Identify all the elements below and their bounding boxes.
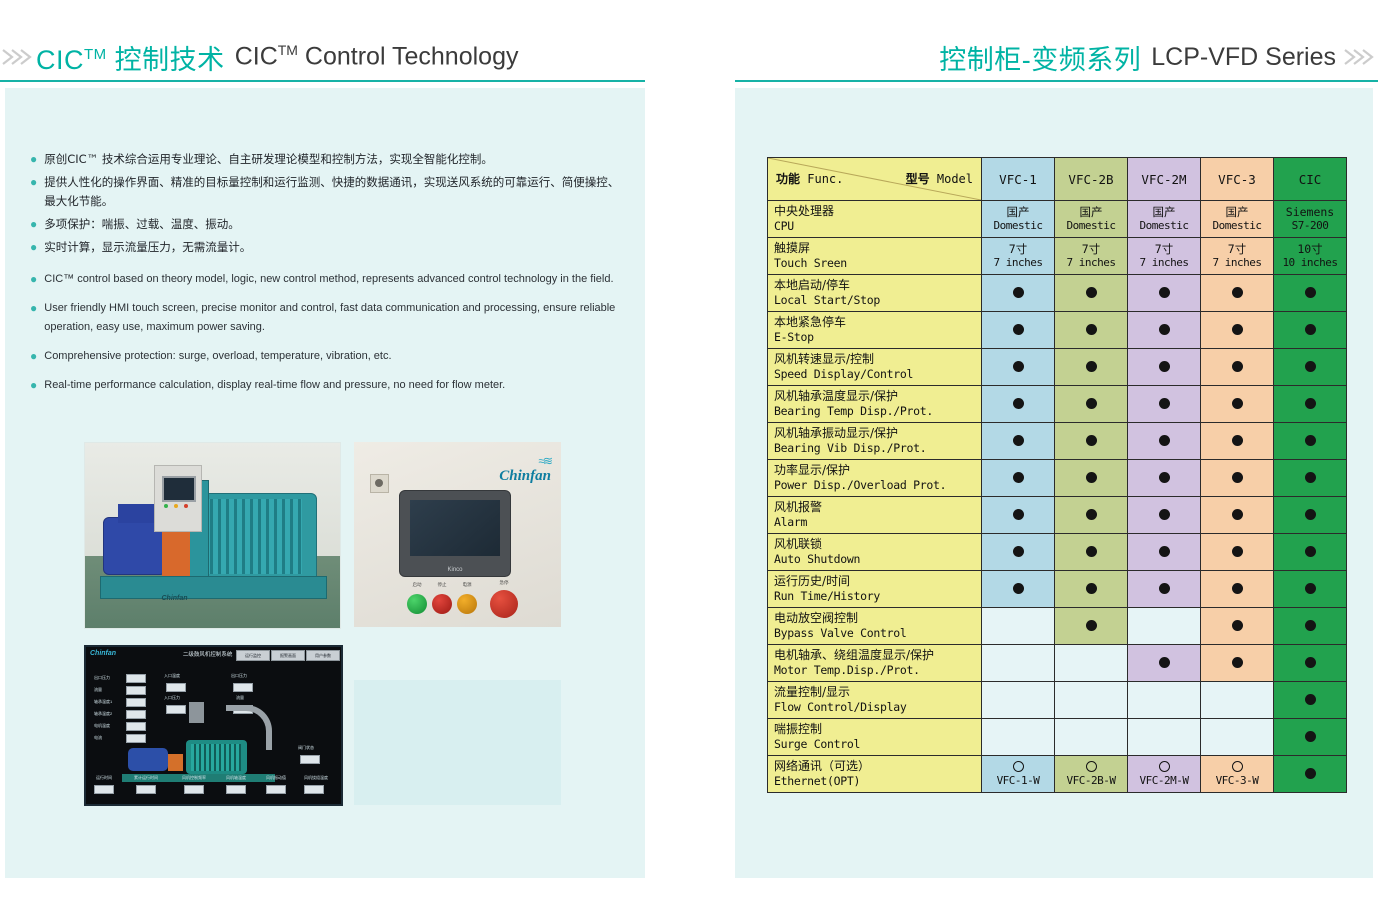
cell-value-primary: 7寸	[1201, 242, 1273, 256]
supported-mark-icon	[1232, 472, 1243, 483]
table-row: 本地启动/停车Local Start/Stop	[768, 275, 1347, 312]
cell-value-secondary: 7 inches	[1128, 256, 1200, 270]
feature-support-cell	[982, 460, 1055, 497]
feature-label-cn: 风机转速显示/控制	[774, 352, 981, 367]
feature-label-cn: 中央处理器	[774, 204, 981, 219]
supported-mark-icon	[1232, 657, 1243, 668]
bullet-dot-icon: ●	[30, 302, 37, 314]
right-section-header: 控制柜-变频系列 LCP-VFD Series	[735, 34, 1378, 80]
supported-mark-icon	[1232, 435, 1243, 446]
feature-label-en: Touch Sreen	[774, 256, 981, 271]
supported-mark-icon	[1013, 509, 1024, 520]
cell-value-secondary: Domestic	[1055, 219, 1127, 233]
feature-label-en: Ethernet(OPT)	[774, 774, 981, 789]
hmi-nav-button[interactable]: 参数设置	[341, 650, 343, 661]
hmi-nav-button[interactable]: 用户参数	[306, 650, 340, 661]
supported-mark-icon	[1086, 361, 1097, 372]
hmi-nav-button[interactable]: 运行监控	[236, 650, 270, 661]
feature-label-cn: 本地紧急停车	[774, 315, 981, 330]
supported-mark-icon	[1159, 546, 1170, 557]
right-title-cn: 控制柜-变频系列	[939, 38, 1141, 77]
left-header-rule	[0, 80, 645, 82]
feature-support-cell: 国产Domestic	[982, 201, 1055, 238]
optional-mark-icon	[1159, 761, 1170, 772]
hmi-param-label: 入口压力	[164, 695, 180, 701]
feature-support-cell	[1055, 608, 1128, 645]
hmi-value-field	[266, 785, 286, 794]
feature-support-cell	[1274, 312, 1347, 349]
hmi-value-field	[166, 705, 186, 714]
hmi-param-label: 出口压力	[231, 673, 247, 679]
hmi-param-label: 风机振动值	[266, 775, 286, 781]
feature-support-cell	[1201, 460, 1274, 497]
table-row: 运行历史/时间Run Time/History	[768, 571, 1347, 608]
optional-mark-icon	[1086, 761, 1097, 772]
left-title-cn: CICTM 控制技术	[36, 38, 225, 77]
hmi-screen-title: 二级鼓风机控制系统	[183, 650, 233, 658]
hmi-param-label: 出口压力	[94, 675, 110, 681]
cell-value-primary: Siemens	[1274, 205, 1346, 219]
table-row: 电动放空阀控制Bypass Valve Control	[768, 608, 1347, 645]
feature-label-en: CPU	[774, 219, 981, 234]
feature-label-cell: 运行历史/时间Run Time/History	[768, 571, 982, 608]
feature-support-cell	[1055, 460, 1128, 497]
cell-value-primary: 7寸	[1128, 242, 1200, 256]
feature-support-cell	[1274, 275, 1347, 312]
feature-support-cell: VFC-3-W	[1201, 756, 1274, 793]
feature-support-cell	[1201, 497, 1274, 534]
table-row: 触摸屏Touch Sreen7寸7 inches7寸7 inches7寸7 in…	[768, 238, 1347, 275]
feature-label-cell: 喘振控制Surge Control	[768, 719, 982, 756]
feature-support-cell: VFC-2M-W	[1128, 756, 1201, 793]
feature-label-cn: 网络通讯（可选）	[774, 759, 981, 774]
feature-label-cn: 本地启动/停车	[774, 278, 981, 293]
feature-support-cell	[1274, 460, 1347, 497]
supported-mark-icon	[1305, 657, 1316, 668]
stop-pushbutton[interactable]	[432, 594, 452, 614]
corner-func-label: 功能 Func.	[776, 170, 843, 187]
feature-support-cell	[1128, 645, 1201, 682]
supported-mark-icon	[1086, 398, 1097, 409]
list-item: ● CIC™ control based on theory model, lo…	[30, 270, 630, 289]
feature-support-cell	[1128, 608, 1201, 645]
feature-support-cell	[1201, 571, 1274, 608]
cell-value-primary: 国产	[1201, 205, 1273, 219]
feature-label-cell: 电机轴承、绕组温度显示/保护Motor Temp.Disp./Prot.	[768, 645, 982, 682]
cell-value-primary: 国产	[1128, 205, 1200, 219]
table-row: 本地紧急停车E-Stop	[768, 312, 1347, 349]
table-row: 风机报警Alarm	[768, 497, 1347, 534]
feature-support-cell	[1128, 497, 1201, 534]
list-item: ● 多项保护：喘振、过载、温度、振动。	[30, 215, 630, 234]
hmi-param-label: 轴承温度1	[94, 699, 112, 705]
feature-support-cell	[982, 534, 1055, 571]
feature-support-cell	[1055, 571, 1128, 608]
hmi-param-label: 流量	[94, 687, 102, 693]
motor-terminal-box	[118, 504, 154, 523]
control-panel-photo: ≈≋ Chinfan Kinco 启动 停止 电源 急停	[354, 442, 561, 627]
feature-support-cell: VFC-1-W	[982, 756, 1055, 793]
table-row: 流量控制/显示Flow Control/Display	[768, 682, 1347, 719]
feature-label-cn: 功率显示/保护	[774, 463, 981, 478]
list-item: ● 实时计算，显示流量压力，无需流量计。	[30, 238, 630, 257]
feature-support-cell	[982, 719, 1055, 756]
feature-support-cell	[1274, 608, 1347, 645]
feature-support-cell	[1055, 719, 1128, 756]
supported-mark-icon	[1305, 731, 1316, 742]
supported-mark-icon	[1305, 768, 1316, 779]
hmi-value-field	[304, 785, 324, 794]
feature-support-cell: SiemensS7-200	[1274, 201, 1347, 238]
feature-support-cell	[1201, 682, 1274, 719]
table-row: 网络通讯（可选）Ethernet(OPT)VFC-1-WVFC-2B-WVFC-…	[768, 756, 1347, 793]
feature-support-cell	[1128, 312, 1201, 349]
supported-mark-icon	[1159, 583, 1170, 594]
door-lock-icon	[370, 474, 389, 493]
feature-label-cn: 电机轴承、绕组温度显示/保护	[774, 648, 981, 663]
supported-mark-icon	[1305, 287, 1316, 298]
cell-value-secondary: VFC-2B-W	[1055, 774, 1127, 788]
feature-label-cn: 触摸屏	[774, 241, 981, 256]
mimic-motor	[128, 748, 168, 771]
bullet-dot-icon: ●	[30, 176, 37, 188]
supported-mark-icon	[1159, 509, 1170, 520]
feature-support-cell: 7寸7 inches	[982, 238, 1055, 275]
feature-support-cell	[1274, 645, 1347, 682]
feature-label-cell: 功率显示/保护Power Disp./Overload Prot.	[768, 460, 982, 497]
list-item: ● 提供人性化的操作界面、精准的目标量控制和运行监测、快捷的数据通讯，实现送风系…	[30, 173, 630, 211]
feature-label-cell: 本地紧急停车E-Stop	[768, 312, 982, 349]
feature-support-cell	[1274, 756, 1347, 793]
feature-support-cell	[1274, 682, 1347, 719]
feature-label-en: Flow Control/Display	[774, 700, 981, 715]
supported-mark-icon	[1305, 435, 1316, 446]
feature-label-en: Motor Temp.Disp./Prot.	[774, 663, 981, 678]
feature-label-cn: 电动放空阀控制	[774, 611, 981, 626]
feature-label-cn: 流量控制/显示	[774, 685, 981, 700]
hmi-display-area	[410, 500, 500, 556]
column-header-vfc3: VFC-3	[1201, 158, 1274, 201]
hmi-mimic-diagram	[122, 719, 275, 782]
feature-support-cell	[1201, 645, 1274, 682]
feature-label-en: Run Time/History	[774, 589, 981, 604]
cell-value-secondary: S7-200	[1274, 219, 1346, 233]
feature-label-cell: 中央处理器CPU	[768, 201, 982, 238]
feature-support-cell: 7寸7 inches	[1128, 238, 1201, 275]
supported-mark-icon	[1159, 435, 1170, 446]
feature-support-cell	[1201, 534, 1274, 571]
feature-label-cn: 风机轴承振动显示/保护	[774, 426, 981, 441]
feature-label-cell: 风机轴承振动显示/保护Bearing Vib Disp./Prot.	[768, 423, 982, 460]
supported-mark-icon	[1159, 287, 1170, 298]
mimic-stack	[189, 702, 204, 723]
supported-mark-icon	[1013, 435, 1024, 446]
cell-value-secondary: VFC-2M-W	[1128, 774, 1200, 788]
feature-support-cell	[1201, 275, 1274, 312]
hmi-param-label: 电流	[94, 735, 102, 741]
feature-support-cell	[1274, 571, 1347, 608]
feature-support-cell	[1128, 571, 1201, 608]
supported-mark-icon	[1159, 361, 1170, 372]
feature-label-en: Power Disp./Overload Prot.	[774, 478, 981, 493]
button-caption: 停止	[428, 582, 456, 588]
supported-mark-icon	[1013, 546, 1024, 557]
supported-mark-icon	[1086, 546, 1097, 557]
feature-support-cell	[1201, 349, 1274, 386]
feature-label-en: Alarm	[774, 515, 981, 530]
hmi-value-field	[136, 785, 156, 794]
feature-label-en: Surge Control	[774, 737, 981, 752]
supported-mark-icon	[1013, 398, 1024, 409]
feature-support-cell: 国产Domestic	[1201, 201, 1274, 238]
chinese-feature-list: ● 原创CIC™ 技术综合运用专业理论、自主研发理论模型和控制方法，实现全智能化…	[30, 150, 630, 261]
cell-value-primary: 7寸	[1055, 242, 1127, 256]
left-section-header: CICTM 控制技术 CICTM Control Technology	[0, 34, 645, 80]
supported-mark-icon	[1232, 287, 1243, 298]
bullet-dot-icon: ●	[30, 379, 37, 391]
table-body: 中央处理器CPU国产Domestic国产Domestic国产Domestic国产…	[768, 201, 1347, 793]
feature-support-cell	[1201, 312, 1274, 349]
supported-mark-icon	[1086, 472, 1097, 483]
feature-support-cell	[1201, 608, 1274, 645]
feature-support-cell	[1274, 386, 1347, 423]
feature-support-cell	[1055, 497, 1128, 534]
blower-fins	[205, 499, 302, 575]
hmi-param-label: 电机温度	[94, 723, 110, 729]
supported-mark-icon	[1305, 472, 1316, 483]
feature-label-cell: 风机转速显示/控制Speed Display/Control	[768, 349, 982, 386]
blower-unit-photo: Chinfan	[84, 442, 341, 629]
button-caption: 电源	[453, 582, 481, 588]
column-header-vfc2b: VFC-2B	[1055, 158, 1128, 201]
hmi-value-field	[300, 755, 320, 764]
feature-label-cell: 触摸屏Touch Sreen	[768, 238, 982, 275]
cell-value-primary: 国产	[1055, 205, 1127, 219]
cell-value-primary: 7寸	[982, 242, 1054, 256]
chinfan-logo: ≈≋ Chinfan	[499, 454, 551, 485]
feature-support-cell	[982, 497, 1055, 534]
right-header-rule	[735, 80, 1378, 82]
feature-label-en: E-Stop	[774, 330, 981, 345]
page-root: CICTM 控制技术 CICTM Control Technology 控制柜-…	[0, 0, 1378, 912]
button-caption: 急停	[490, 580, 518, 586]
hmi-value-field	[126, 698, 146, 707]
photo-brand-label: Chinfan	[162, 595, 188, 602]
feature-support-cell	[1055, 275, 1128, 312]
chevron-right-triple-icon	[0, 44, 36, 70]
feature-label-cell: 电动放空阀控制Bypass Valve Control	[768, 608, 982, 645]
button-caption: 启动	[403, 582, 431, 588]
table-row: 中央处理器CPU国产Domestic国产Domestic国产Domestic国产…	[768, 201, 1347, 238]
hmi-brand-logo: Chinfan	[90, 650, 116, 657]
feature-support-cell	[1128, 386, 1201, 423]
feature-support-cell	[982, 645, 1055, 682]
supported-mark-icon	[1305, 509, 1316, 520]
bullet-dot-icon: ●	[30, 218, 37, 230]
column-header-cic: CIC	[1274, 158, 1347, 201]
supported-mark-icon	[1013, 361, 1024, 372]
supported-mark-icon	[1232, 361, 1243, 372]
feature-label-en: Bearing Temp Disp./Prot.	[774, 404, 981, 419]
supported-mark-icon	[1305, 398, 1316, 409]
supported-mark-icon	[1086, 583, 1097, 594]
supported-mark-icon	[1232, 509, 1243, 520]
feature-label-cell: 风机报警Alarm	[768, 497, 982, 534]
cell-value-secondary: VFC-1-W	[982, 774, 1054, 788]
feature-label-en: Bypass Valve Control	[774, 626, 981, 641]
feature-support-cell: 国产Domestic	[1128, 201, 1201, 238]
supported-mark-icon	[1013, 324, 1024, 335]
mimic-coupling	[168, 754, 183, 770]
power-indicator-lamp[interactable]	[457, 594, 477, 614]
feature-support-cell	[1274, 534, 1347, 571]
supported-mark-icon	[1159, 324, 1170, 335]
hmi-param-label: 轴承温度2	[94, 711, 112, 717]
hmi-screen-photo: Chinfan 二级鼓风机控制系统 运行监控 报警画面 用户参数 参数设置 出口…	[84, 645, 343, 806]
english-feature-list: ● CIC™ control based on theory model, lo…	[30, 270, 630, 405]
brand-name: Chinfan	[499, 468, 551, 485]
bullet-dot-icon: ●	[30, 241, 37, 253]
list-item: ● Real-time performance calculation, dis…	[30, 376, 630, 395]
supported-mark-icon	[1013, 472, 1024, 483]
hmi-value-field	[166, 683, 186, 692]
supported-mark-icon	[1305, 694, 1316, 705]
cabinet-hmi-screen	[162, 476, 197, 502]
feature-support-cell	[1274, 423, 1347, 460]
cell-value-secondary: Domestic	[1201, 219, 1273, 233]
feature-support-cell	[1055, 386, 1128, 423]
column-header-vfc1: VFC-1	[982, 158, 1055, 201]
feature-support-cell	[982, 423, 1055, 460]
feature-support-cell	[1274, 719, 1347, 756]
hmi-param-label: 风机轴温度	[226, 775, 246, 781]
cell-value-secondary: Domestic	[982, 219, 1054, 233]
cell-value-secondary: VFC-3-W	[1201, 774, 1273, 788]
feature-support-cell	[1128, 460, 1201, 497]
feature-label-cell: 网络通讯（可选）Ethernet(OPT)	[768, 756, 982, 793]
list-item: ● User friendly HMI touch screen, precis…	[30, 299, 630, 337]
hmi-touch-panel: Kinco	[399, 490, 511, 577]
feature-label-cell: 风机轴承温度显示/保护Bearing Temp Disp./Prot.	[768, 386, 982, 423]
supported-mark-icon	[1159, 398, 1170, 409]
feature-support-cell	[1201, 719, 1274, 756]
feature-support-cell	[982, 275, 1055, 312]
table-row: 喘振控制Surge Control	[768, 719, 1347, 756]
feature-support-cell: VFC-2B-W	[1055, 756, 1128, 793]
feature-support-cell	[1274, 349, 1347, 386]
list-item: ● Comprehensive protection: surge, overl…	[30, 347, 630, 366]
feature-label-en: Auto Shutdown	[774, 552, 981, 567]
left-title-en: CICTM Control Technology	[235, 42, 519, 71]
table-row: 风机转速显示/控制Speed Display/Control	[768, 349, 1347, 386]
feature-support-cell	[1128, 719, 1201, 756]
table-row: 风机轴承振动显示/保护Bearing Vib Disp./Prot.	[768, 423, 1347, 460]
cell-value-secondary: 7 inches	[1201, 256, 1273, 270]
hmi-value-field	[126, 710, 146, 719]
feature-label-cell: 风机联锁Auto Shutdown	[768, 534, 982, 571]
feature-support-cell	[982, 349, 1055, 386]
hmi-param-label: 累计运行时间	[134, 775, 158, 781]
supported-mark-icon	[1232, 583, 1243, 594]
cell-value-secondary: 7 inches	[1055, 256, 1127, 270]
hmi-value-field	[94, 785, 114, 794]
feature-label-cn: 运行历史/时间	[774, 574, 981, 589]
supported-mark-icon	[1013, 583, 1024, 594]
feature-label-en: Speed Display/Control	[774, 367, 981, 382]
feature-support-cell	[982, 312, 1055, 349]
supported-mark-icon	[1086, 324, 1097, 335]
hmi-param-label: 阀门状态	[298, 745, 314, 751]
feature-support-cell	[1055, 423, 1128, 460]
hmi-nav-button[interactable]: 报警画面	[271, 650, 305, 661]
hmi-param-label: 流量	[236, 695, 244, 701]
supported-mark-icon	[1159, 657, 1170, 668]
table-row: 电机轴承、绕组温度显示/保护Motor Temp.Disp./Prot.	[768, 645, 1347, 682]
blank-placeholder	[354, 680, 561, 805]
feature-label-en: Bearing Vib Disp./Prot.	[774, 441, 981, 456]
mimic-discharge-pipe	[226, 705, 272, 750]
hmi-brand-label: Kinco	[400, 567, 510, 573]
supported-mark-icon	[1013, 287, 1024, 298]
feature-label-cn: 风机联锁	[774, 537, 981, 552]
cell-value-secondary: 10 inches	[1274, 256, 1346, 270]
supported-mark-icon	[1232, 546, 1243, 557]
feature-support-cell: 国产Domestic	[1055, 201, 1128, 238]
cell-value-secondary: Domestic	[1128, 219, 1200, 233]
table-row: 功率显示/保护Power Disp./Overload Prot.	[768, 460, 1347, 497]
feature-support-cell	[1274, 497, 1347, 534]
supported-mark-icon	[1305, 620, 1316, 631]
feature-label-cn: 风机轴承温度显示/保护	[774, 389, 981, 404]
feature-support-cell	[1201, 423, 1274, 460]
feature-label-cell: 本地启动/停车Local Start/Stop	[768, 275, 982, 312]
table-header-row: 功能 Func. 型号 Model VFC-1 VFC-2B VFC-2M VF…	[768, 158, 1347, 201]
hmi-value-field	[233, 683, 253, 692]
vfd-feature-matrix-table: 功能 Func. 型号 Model VFC-1 VFC-2B VFC-2M VF…	[767, 157, 1347, 793]
bullet-dot-icon: ●	[30, 273, 37, 285]
feature-support-cell	[982, 682, 1055, 719]
supported-mark-icon	[1086, 509, 1097, 520]
emergency-stop-button[interactable]	[490, 590, 518, 618]
supported-mark-icon	[1305, 583, 1316, 594]
feature-support-cell	[1128, 349, 1201, 386]
hmi-param-label: 入口温度	[164, 673, 180, 679]
hmi-param-label: 风机控制频率	[182, 775, 206, 781]
feature-support-cell	[982, 386, 1055, 423]
feature-label-cell: 流量控制/显示Flow Control/Display	[768, 682, 982, 719]
hmi-value-field	[226, 785, 246, 794]
feature-support-cell	[1128, 423, 1201, 460]
column-header-vfc2m: VFC-2M	[1128, 158, 1201, 201]
supported-mark-icon	[1086, 435, 1097, 446]
start-pushbutton[interactable]	[407, 594, 427, 614]
supported-mark-icon	[1305, 324, 1316, 335]
feature-support-cell: 7寸7 inches	[1055, 238, 1128, 275]
supported-mark-icon	[1086, 620, 1097, 631]
optional-mark-icon	[1232, 761, 1243, 772]
bullet-dot-icon: ●	[30, 350, 37, 362]
supported-mark-icon	[1232, 620, 1243, 631]
feature-support-cell	[982, 608, 1055, 645]
supported-mark-icon	[1086, 287, 1097, 298]
supported-mark-icon	[1232, 398, 1243, 409]
feature-label-cn: 风机报警	[774, 500, 981, 515]
feature-support-cell	[1201, 386, 1274, 423]
coupling-guard	[162, 526, 190, 576]
feature-support-cell	[1128, 275, 1201, 312]
feature-label-cn: 喘振控制	[774, 722, 981, 737]
hmi-value-field	[184, 785, 204, 794]
